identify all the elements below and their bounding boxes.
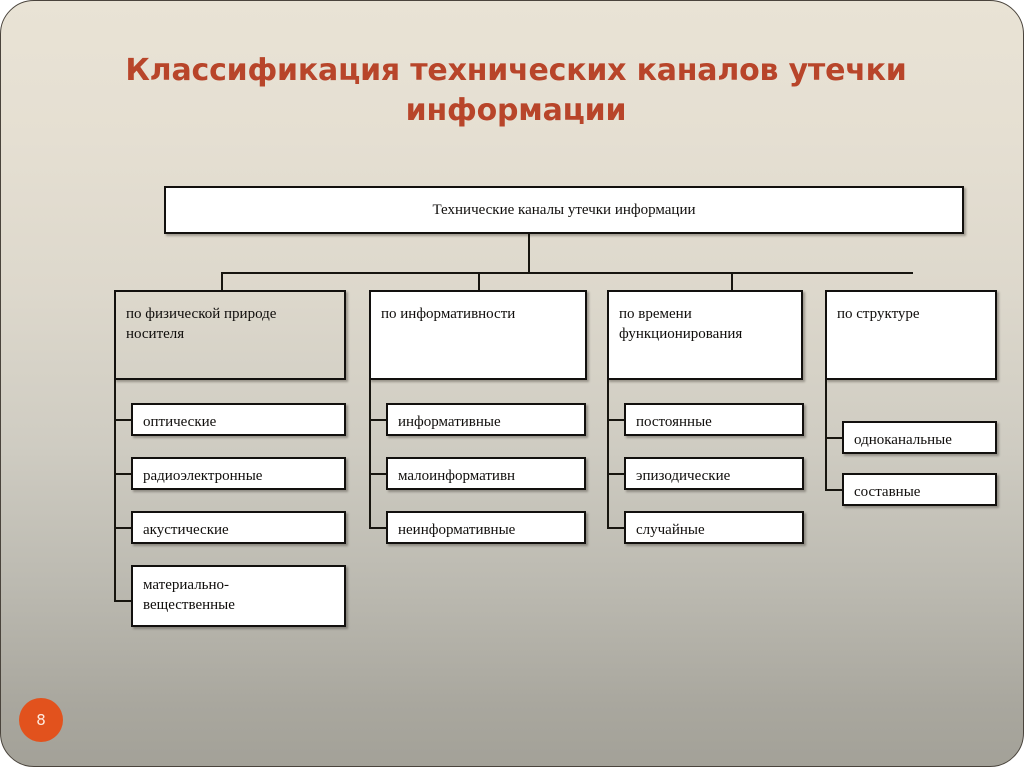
connector-bus-drop-1 [221,272,223,290]
tree-leaf-3-3: случайные [624,511,804,544]
tree-leaf-3-2-label: эпизодические [636,466,796,486]
tree-leaf-1-2: радиоэлектронные [131,457,346,490]
tree-node-root: Технические каналы утечки информации [164,186,964,234]
tree-leaf-2-3: неинформативные [386,511,586,544]
connector-spine-2 [369,380,371,528]
tree-leaf-4-1-label: одноканальные [854,430,989,450]
connector-stub-3-2 [607,473,625,475]
classification-tree-diagram: Технические каналы утечки информации по … [1,1,1024,767]
tree-leaf-1-4-label: материально- вещественные [143,575,338,615]
tree-node-root-label: Технические каналы утечки информации [166,200,962,220]
tree-leaf-2-3-label: неинформативные [398,520,578,540]
tree-leaf-1-2-label: радиоэлектронные [143,466,338,486]
tree-leaf-1-1-label: оптические [143,412,338,432]
tree-node-category-3: по времени функционирования [607,290,803,380]
tree-leaf-3-2: эпизодические [624,457,804,490]
tree-leaf-1-3-label: акустические [143,520,338,540]
tree-leaf-2-2: малоинформативн [386,457,586,490]
connector-stub-3-3 [607,527,625,529]
connector-stub-3-1 [607,419,625,421]
tree-leaf-2-2-label: малоинформативн [398,466,578,486]
tree-leaf-3-1-label: постоянные [636,412,796,432]
connector-spine-1 [114,380,116,602]
tree-node-category-2: по информативности [369,290,587,380]
tree-leaf-4-2: составные [842,473,997,506]
tree-leaf-1-1: оптические [131,403,346,436]
tree-node-category-2-label: по информативности [381,304,579,324]
connector-stub-4-2 [825,489,843,491]
tree-leaf-1-3: акустические [131,511,346,544]
tree-leaf-4-1: одноканальные [842,421,997,454]
tree-leaf-3-3-label: случайные [636,520,796,540]
connector-stub-2-3 [369,527,387,529]
connector-bus-drop-2 [478,272,480,290]
connector-bus [221,272,913,274]
tree-node-category-1: по физической природе носителя [114,290,346,380]
slide-canvas: Классификация технических каналов утечки… [0,0,1024,767]
connector-stub-1-2 [114,473,132,475]
tree-leaf-3-1: постоянные [624,403,804,436]
connector-stub-4-1 [825,437,843,439]
connector-spine-4 [825,380,827,490]
tree-leaf-2-1-label: информативные [398,412,578,432]
tree-leaf-2-1: информативные [386,403,586,436]
connector-spine-3 [607,380,609,528]
connector-stub-2-2 [369,473,387,475]
tree-node-category-4: по структуре [825,290,997,380]
connector-bus-drop-3 [731,272,733,290]
tree-node-category-1-label: по физической природе носителя [126,304,338,344]
connector-stub-2-1 [369,419,387,421]
connector-stub-1-3 [114,527,132,529]
tree-leaf-4-2-label: составные [854,482,989,502]
connector-stub-1-4 [114,600,132,602]
tree-leaf-1-4: материально- вещественные [131,565,346,627]
tree-node-category-4-label: по структуре [837,304,989,324]
page-number-badge: 8 [19,698,63,742]
tree-node-category-3-label: по времени функционирования [619,304,795,344]
connector-stub-1-1 [114,419,132,421]
connector-root-drop [528,234,530,273]
